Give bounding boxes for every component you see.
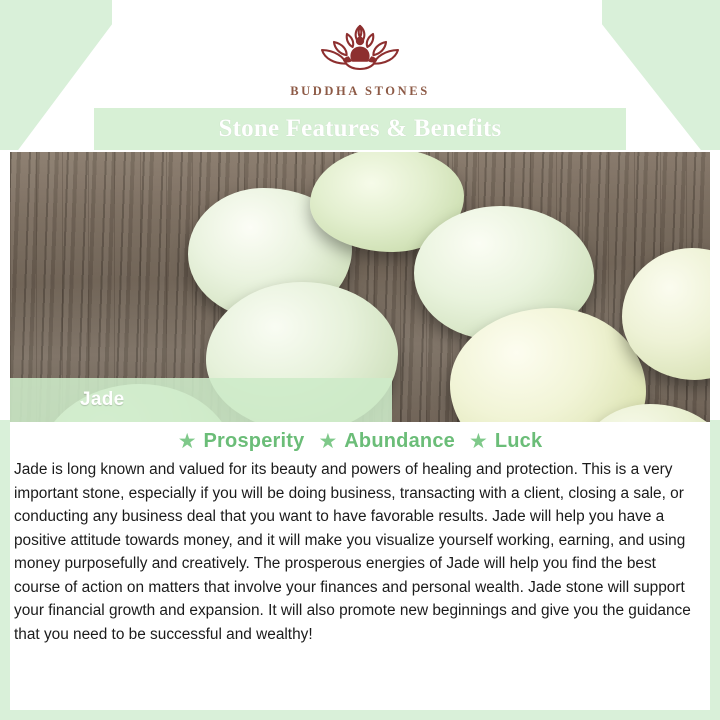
description-text: Jade is long known and valued for its be… [14, 458, 706, 647]
frame-border-bottom [0, 710, 720, 720]
section-title-banner: Stone Features & Benefits [94, 108, 626, 150]
star-icon: ★ [178, 431, 197, 452]
frame-border-right [710, 420, 720, 720]
keyword-item-abundance: ★ Abundance [318, 430, 455, 453]
keyword-item-luck: ★ Luck [469, 430, 542, 453]
infographic-page: BUDDHA STONES Stone Features & Benefits … [0, 0, 720, 720]
page-title: Stone Features & Benefits [219, 115, 502, 143]
brand-logo: BUDDHA STONES [0, 16, 720, 99]
star-icon: ★ [469, 431, 488, 452]
keyword-label: Abundance [344, 430, 455, 453]
stone-name-label: Jade [80, 389, 125, 411]
keyword-item-prosperity: ★ Prosperity [178, 430, 305, 453]
stone-name-strip: Jade [10, 378, 392, 422]
keyword-label: Luck [495, 430, 542, 453]
frame-border-left [0, 420, 10, 720]
lotus-meditation-figure-icon [300, 16, 420, 78]
keyword-list: ★ Prosperity ★ Abundance ★ Luck [0, 430, 720, 453]
brand-wordmark: BUDDHA STONES [290, 84, 430, 99]
keyword-label: Prosperity [204, 430, 305, 453]
star-icon: ★ [318, 431, 337, 452]
